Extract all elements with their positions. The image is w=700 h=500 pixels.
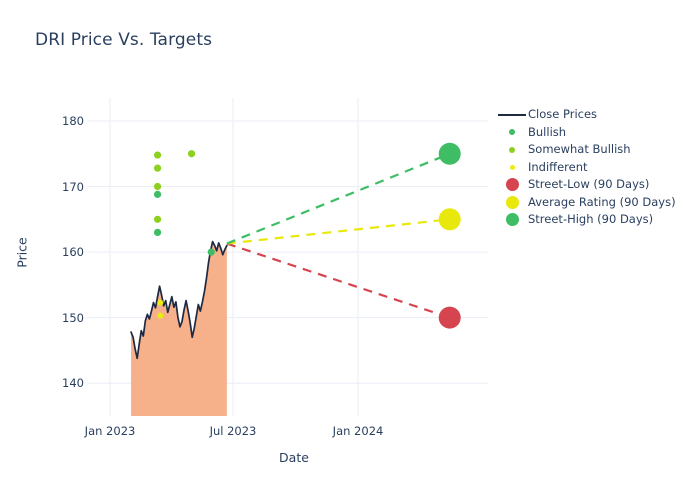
legend-dot-marker: [496, 176, 528, 194]
rating-dot-somewhat-bullish[interactable]: [154, 151, 161, 158]
plot-area: [0, 0, 700, 500]
legend-item-label: Bullish: [528, 127, 566, 139]
rating-dot-somewhat-bullish[interactable]: [154, 216, 161, 223]
chart-figure: DRI Price Vs. Targets Price Date 1401501…: [0, 0, 700, 500]
rating-dot-somewhat-bullish[interactable]: [154, 165, 161, 172]
legend-dot-swatch: [509, 129, 515, 135]
legend-item[interactable]: Street-Low (90 Days): [496, 176, 696, 194]
target-marker-street-high-days[interactable]: [439, 143, 461, 165]
legend-item[interactable]: Close Prices: [496, 106, 696, 124]
legend-dot-marker: [496, 211, 528, 229]
legend-item-label: Street-Low (90 Days): [528, 179, 649, 191]
legend-dot-swatch: [509, 147, 515, 153]
rating-dot-bullish[interactable]: [208, 248, 215, 255]
legend-dot-marker: [496, 124, 528, 142]
legend-item[interactable]: Bullish: [496, 124, 696, 142]
legend-dot-swatch: [506, 178, 519, 191]
target-line-street-low-days: [227, 244, 450, 318]
rating-dot-somewhat-bullish[interactable]: [188, 150, 195, 157]
legend-item-label: Somewhat Bullish: [528, 144, 631, 156]
rating-dot-indifferent[interactable]: [157, 300, 163, 306]
close-prices-area: [131, 242, 227, 416]
legend-dot-swatch: [506, 196, 519, 209]
target-marker-street-low-days[interactable]: [439, 307, 461, 329]
legend-dot-marker: [496, 141, 528, 159]
target-line-average-rating-days: [227, 219, 450, 243]
legend-dot-swatch: [510, 165, 515, 170]
legend-dot-marker: [496, 194, 528, 212]
rating-dot-indifferent[interactable]: [157, 313, 163, 319]
rating-dot-bullish[interactable]: [154, 229, 161, 236]
legend-dot-marker: [496, 159, 528, 177]
rating-dot-somewhat-bullish[interactable]: [154, 183, 161, 190]
legend-dot-swatch: [506, 213, 519, 226]
legend-item[interactable]: Indifferent: [496, 159, 696, 177]
legend-item[interactable]: Street-High (90 Days): [496, 211, 696, 229]
rating-dot-bullish[interactable]: [154, 191, 161, 198]
target-marker-average-rating-days[interactable]: [439, 208, 461, 230]
legend-item-label: Indifferent: [528, 162, 588, 174]
legend-item[interactable]: Somewhat Bullish: [496, 141, 696, 159]
legend-item-label: Street-High (90 Days): [528, 214, 653, 226]
legend-item-label: Average Rating (90 Days): [528, 197, 676, 209]
legend-item-label: Close Prices: [528, 109, 597, 121]
legend-line-swatch: [498, 114, 526, 116]
chart-legend: Close PricesBullishSomewhat BullishIndif…: [496, 106, 696, 229]
legend-line-marker: [496, 106, 528, 124]
legend-item[interactable]: Average Rating (90 Days): [496, 194, 696, 212]
target-line-street-high-days: [227, 154, 450, 244]
